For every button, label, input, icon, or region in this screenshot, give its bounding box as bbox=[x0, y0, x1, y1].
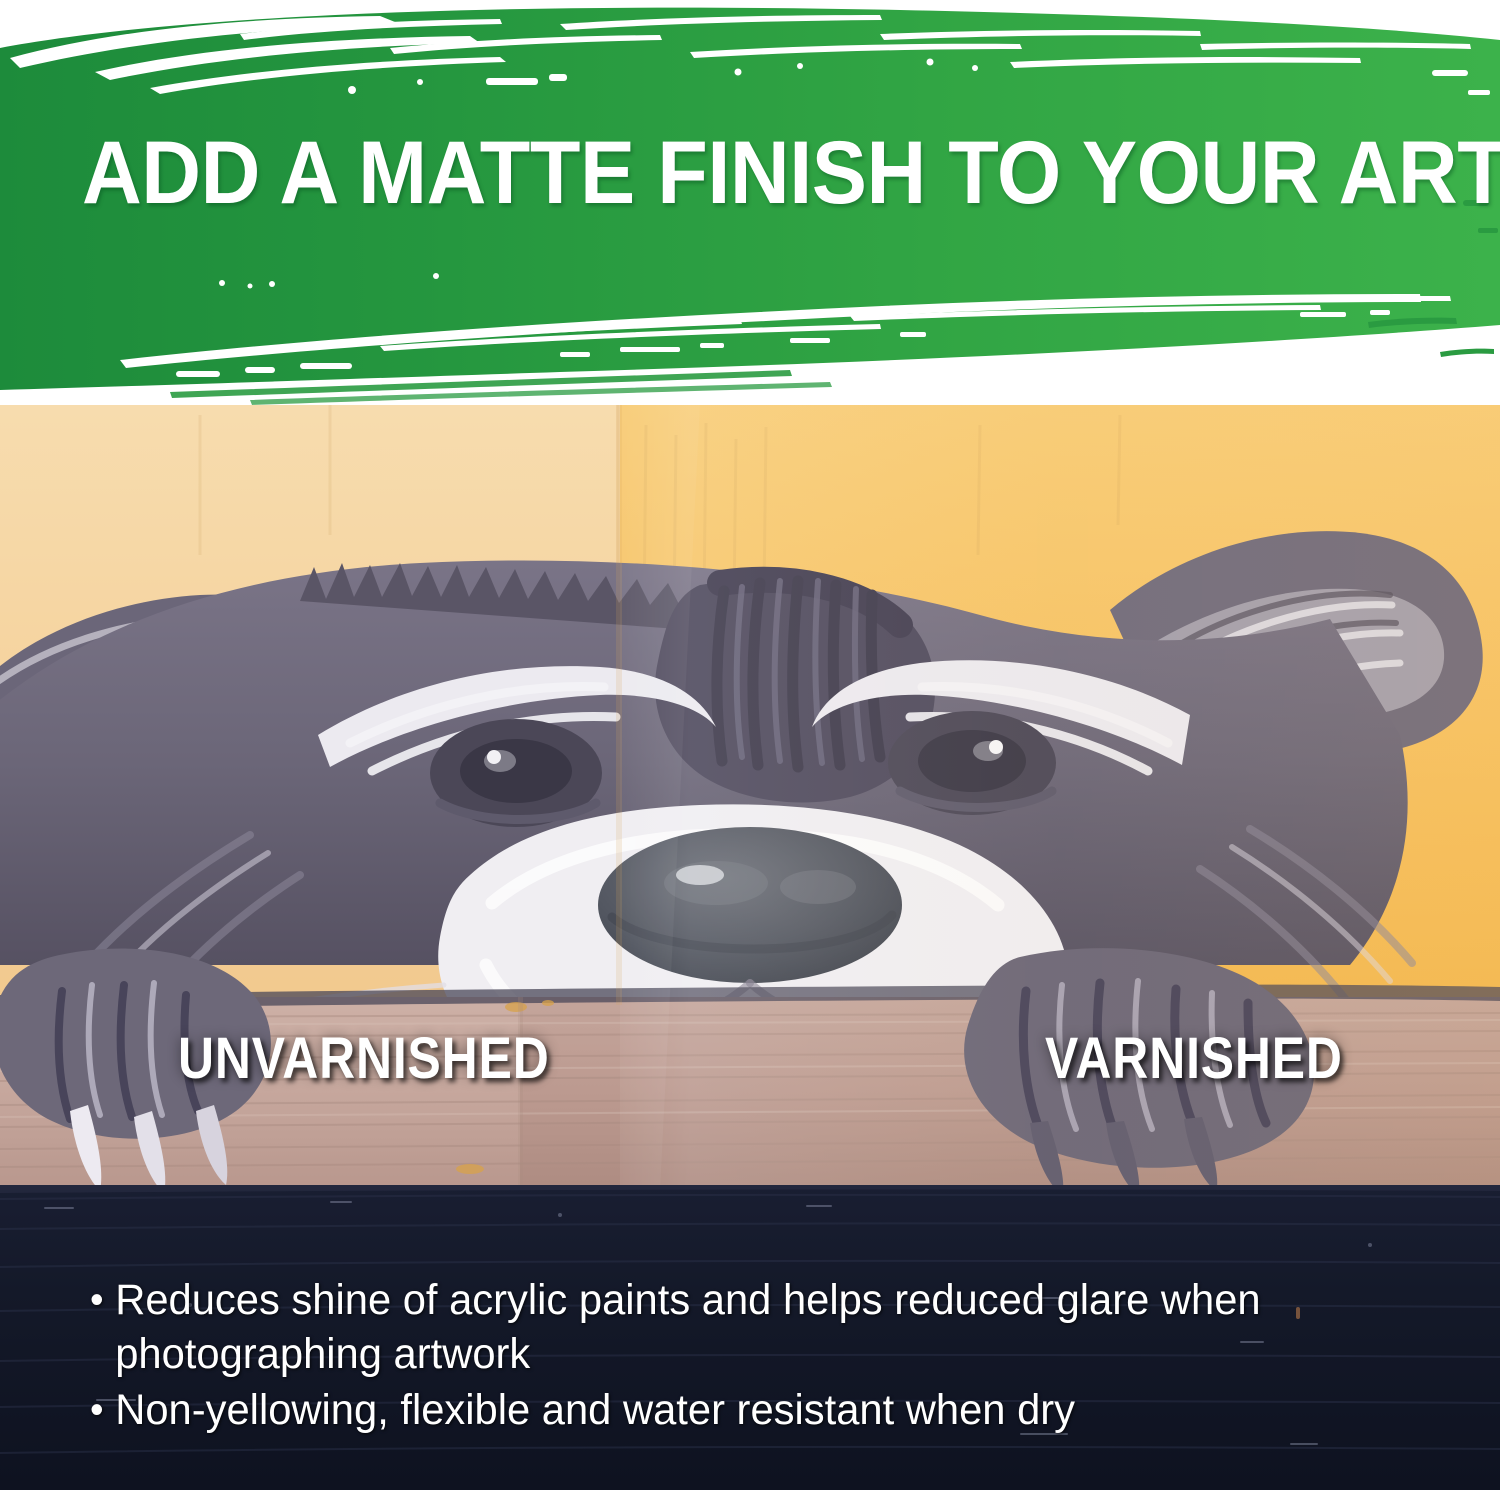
bullet-text: Non-yellowing, flexible and water resist… bbox=[115, 1383, 1409, 1437]
feature-bullet-list: • Reduces shine of acrylic paints and he… bbox=[90, 1273, 1450, 1437]
label-unvarnished: UNVARNISHED bbox=[178, 1030, 550, 1088]
list-item: • Reduces shine of acrylic paints and he… bbox=[90, 1273, 1409, 1381]
product-feature-poster: ADD A MATTE FINISH TO YOUR ARTWORK bbox=[0, 0, 1500, 1490]
bullet-glyph-icon: • bbox=[90, 1273, 115, 1327]
bullet-glyph-icon: • bbox=[90, 1383, 115, 1437]
label-varnished: VARNISHED bbox=[1045, 1030, 1343, 1088]
page-title: ADD A MATTE FINISH TO YOUR ARTWORK bbox=[82, 122, 1347, 227]
list-item: • Non-yellowing, flexible and water resi… bbox=[90, 1383, 1409, 1437]
header-banner: ADD A MATTE FINISH TO YOUR ARTWORK bbox=[0, 0, 1500, 405]
bullet-text: Reduces shine of acrylic paints and help… bbox=[115, 1273, 1409, 1381]
